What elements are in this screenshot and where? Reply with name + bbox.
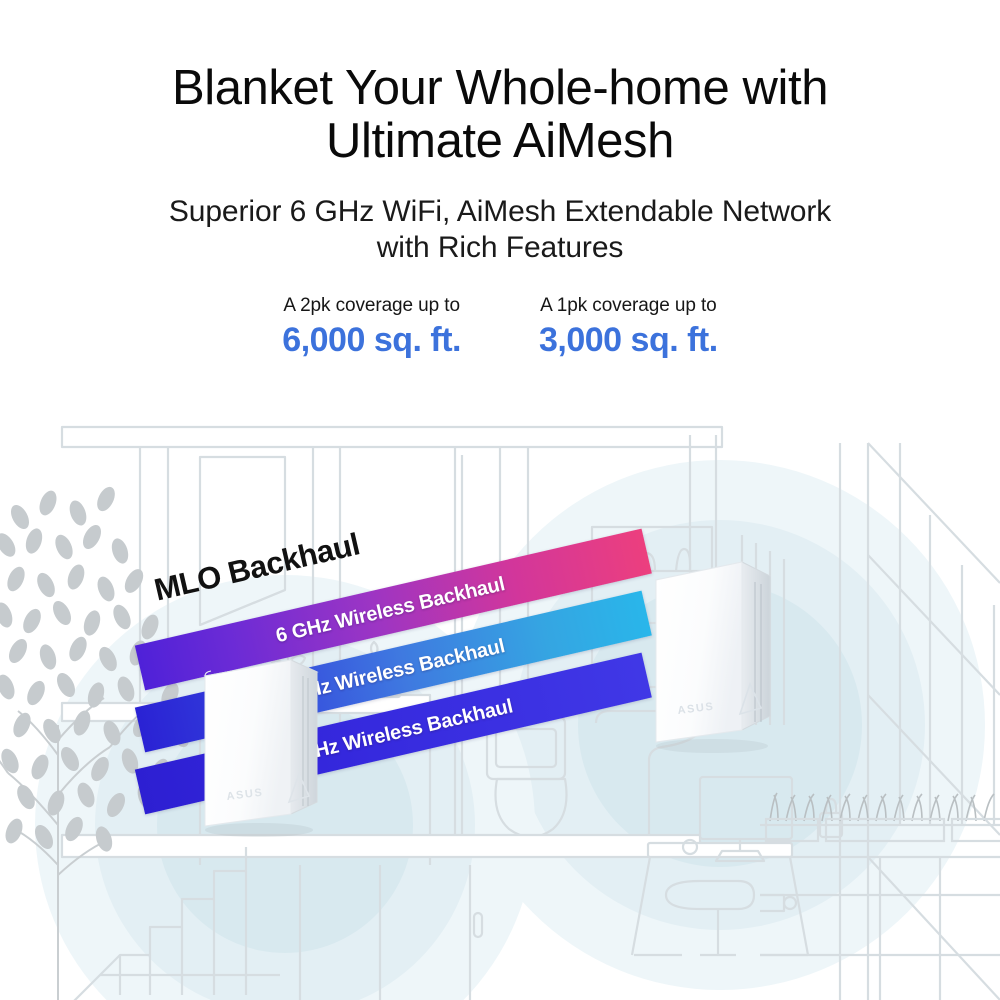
coverage-stats: A 2pk coverage up to 6,000 sq. ft. A 1pk… [0, 295, 1000, 360]
headline-line-1: Blanket Your Whole-home with [172, 61, 828, 115]
mesh-node-right: ASUS [642, 556, 792, 761]
hero-section: Blanket Your Whole-home with Ultimate Ai… [0, 0, 1000, 400]
stat-2pk-value: 6,000 sq. ft. [282, 321, 461, 360]
stat-1pk-value: 3,000 sq. ft. [539, 321, 718, 360]
mesh-node-left: ASUS [193, 654, 333, 844]
stat-2pk-label: A 2pk coverage up to [282, 295, 461, 317]
stat-1pk: A 1pk coverage up to 3,000 sq. ft. [539, 295, 718, 360]
page-title: Blanket Your Whole-home with Ultimate Ai… [0, 62, 1000, 168]
house-illustration [0, 395, 1000, 1000]
stat-1pk-label: A 1pk coverage up to [539, 295, 718, 317]
headline-line-2: Ultimate AiMesh [326, 114, 674, 168]
subtitle-line-1: Superior 6 GHz WiFi, AiMesh Extendable N… [169, 195, 831, 228]
page-subtitle: Superior 6 GHz WiFi, AiMesh Extendable N… [0, 194, 1000, 267]
stat-2pk: A 2pk coverage up to 6,000 sq. ft. [282, 295, 461, 360]
subtitle-line-2: with Rich Features [377, 231, 624, 264]
